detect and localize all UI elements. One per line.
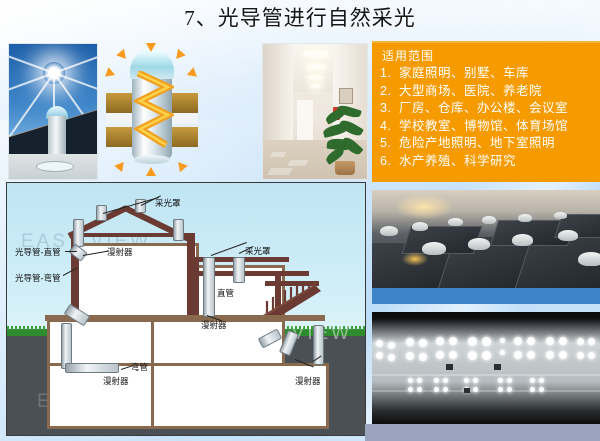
ceiling-light: [539, 387, 544, 392]
bottom-gray-bar: [365, 424, 600, 441]
ceiling-light: [539, 378, 544, 383]
ceiling-light: [527, 351, 535, 359]
list-item: 2.大型商场、医院、养老院: [380, 83, 600, 101]
diagram-label-tube-bend: 光导管-弯管: [15, 272, 61, 284]
list-number: 1.: [380, 65, 399, 83]
ceiling-light: [408, 378, 413, 383]
photo-tube-cutaway: [104, 43, 200, 178]
wall-column: [193, 257, 199, 323]
rooftop-dome: [412, 222, 428, 231]
plant-leaf: [340, 135, 363, 157]
rooftop-dome: [422, 242, 446, 255]
photo-roof-dome: [8, 43, 98, 180]
rooftop-dome: [380, 226, 398, 236]
ceiling-fixture: [446, 364, 453, 370]
list-item: 5.危险产地照明、地下室照明: [380, 135, 600, 153]
ceiling-light: [514, 337, 522, 345]
ceiling-fixture: [494, 364, 501, 370]
list-text: 水产养殖、科学研究: [399, 154, 516, 168]
ceiling-light: [468, 351, 477, 360]
rooftop-dome: [558, 230, 578, 241]
ceiling-light: [507, 387, 512, 392]
band: [170, 113, 198, 123]
list-text: 危险产地照明、地下室照明: [399, 136, 555, 150]
list-item: 3.厂房、仓库、办公楼、会议室: [380, 100, 600, 118]
ceiling-light: [482, 337, 491, 346]
list-text: 大型商场、医院、养老院: [399, 84, 542, 98]
diagram-label-straight: 直管: [217, 287, 234, 299]
scope-heading: 适用范围: [372, 43, 600, 65]
diagram-label-diffuser-top: 漫射器: [107, 246, 133, 258]
light-pipe-horizontal: [65, 363, 119, 373]
rooftop-dome: [518, 214, 532, 222]
ceiling-light: [482, 351, 491, 360]
list-text: 学校教室、博物馆、体育场馆: [399, 119, 568, 133]
photo-rooftop-array: [372, 190, 600, 288]
arrow-icon: [114, 159, 127, 172]
rooftop-dome: [554, 212, 567, 219]
ceiling-light: [406, 352, 414, 360]
ceiling-light: [406, 338, 414, 346]
ceiling-light: [468, 337, 477, 346]
ceiling-light: [473, 387, 478, 392]
flange: [170, 127, 198, 147]
ceiling-light: [376, 340, 383, 347]
section-diagram: EAST VIEW EAST VIEW EAST VIEW: [6, 182, 366, 436]
ceiling-light: [376, 352, 383, 359]
ceiling-light: [443, 387, 448, 392]
ceiling-skylight: [310, 84, 321, 88]
ceiling-light: [507, 378, 512, 383]
ceiling-light: [527, 337, 535, 345]
ceiling-light: [500, 338, 505, 343]
ceiling-light: [500, 350, 505, 355]
ceiling-light: [577, 338, 584, 345]
diagram-label-diffuser-mid: 漫射器: [201, 319, 227, 331]
ceiling-light: [443, 378, 448, 383]
ceiling-light: [530, 387, 535, 392]
slide-title: 7、光导管进行自然采光: [0, 2, 600, 32]
corridor-doorway: [297, 100, 313, 142]
diagram-label-diffuser-right: 漫射器: [295, 375, 321, 387]
ceiling-light: [498, 387, 503, 392]
list-number: 6.: [380, 153, 399, 171]
ceiling-light: [388, 354, 395, 361]
arrow-icon: [105, 67, 117, 79]
floor-tile: [270, 152, 287, 157]
list-number: 2.: [380, 83, 399, 101]
ceiling-light: [417, 387, 422, 392]
ceiling-light: [449, 351, 457, 359]
wall-picture: [339, 88, 353, 104]
floor-tile: [287, 160, 308, 166]
floor-tile: [267, 168, 293, 175]
list-text: 厂房、仓库、办公楼、会议室: [399, 101, 568, 115]
rooftop-dome: [578, 252, 600, 266]
ceiling-light: [464, 378, 469, 383]
leader-line: [211, 242, 247, 256]
ceiling-light: [417, 378, 422, 383]
plant-leaf: [338, 118, 364, 139]
ceiling-light: [449, 337, 457, 345]
ceiling-rail: [372, 390, 600, 392]
sun-reflection: [402, 252, 428, 266]
potted-plant: [323, 105, 365, 175]
arrow-icon: [185, 67, 197, 79]
sun-ray: [54, 43, 98, 74]
rooftop-dome: [468, 238, 490, 250]
flange: [170, 93, 198, 113]
ceiling-light: [530, 378, 535, 383]
ceiling-light: [436, 351, 444, 359]
ceiling-light: [514, 351, 522, 359]
arrow-icon: [174, 159, 187, 172]
light-pipe: [173, 219, 184, 241]
ceiling-light: [473, 378, 478, 383]
ceiling-light: [498, 378, 503, 383]
slide-canvas: 7、光导管进行自然采光: [0, 0, 600, 441]
ceiling-light: [419, 339, 427, 347]
light-pipe-straight: [203, 257, 215, 317]
list-item: 6.水产养殖、科学研究: [380, 153, 600, 171]
arrow-icon: [116, 49, 129, 62]
photo-ceiling-lights: [372, 312, 600, 424]
ceiling-light: [434, 378, 439, 383]
rooftop-dome: [448, 218, 463, 226]
reflected-ray-path: [134, 71, 174, 157]
list-text: 家庭照明、别墅、车库: [399, 66, 529, 80]
photo-corridor: [262, 43, 368, 180]
ceiling-fixture: [464, 388, 470, 393]
leader-line: [65, 251, 77, 252]
diagram-label-cover-right: 采光罩: [245, 245, 271, 257]
blue-divider-bar: [372, 288, 600, 304]
ceiling-skylight: [306, 64, 326, 70]
ceiling-light: [419, 353, 427, 361]
flange: [106, 93, 134, 113]
sun-ray: [8, 43, 54, 74]
ceiling-light: [577, 352, 584, 359]
arrow-icon: [146, 43, 156, 52]
diagram-label-bend: 弯管: [131, 361, 148, 373]
room-basement-right: [151, 363, 329, 429]
ceiling-skylight: [303, 50, 329, 58]
ceiling-light: [588, 352, 595, 359]
flange: [106, 127, 134, 147]
ceiling-light: [546, 351, 554, 359]
list-number: 5.: [380, 135, 399, 153]
rooftop-dome: [512, 234, 533, 246]
list-item: 4.学校教室、博物馆、体育场馆: [380, 118, 600, 136]
room-upper-left: [73, 243, 199, 325]
list-number: 4.: [380, 118, 399, 136]
ceiling-light: [588, 338, 595, 345]
arrow-icon: [146, 167, 156, 176]
sunset-glow: [394, 194, 454, 220]
ceiling-light: [434, 387, 439, 392]
diagram-label-cover-top: 采光罩: [155, 197, 181, 209]
ceiling-light: [388, 342, 395, 349]
ceiling-light: [436, 337, 444, 345]
ceiling-rail: [372, 374, 600, 376]
diagram-label-diffuser-low: 漫射器: [103, 375, 129, 387]
ceiling-diffuser: [36, 161, 74, 172]
list-item: 1.家庭照明、别墅、车库: [380, 65, 600, 83]
ceiling-light: [559, 337, 567, 345]
light-tube: [48, 116, 66, 156]
band: [106, 113, 134, 123]
rooftop-dome: [482, 216, 496, 224]
arrow-icon: [172, 49, 185, 62]
scope-box: 适用范围 1.家庭照明、别墅、车库 2.大型商场、医院、养老院 3.厂房、仓库、…: [372, 41, 600, 182]
ceiling-skylight: [308, 75, 323, 80]
ceiling-light: [408, 387, 413, 392]
diagram-label-tube-straight: 光导管-直管: [15, 246, 61, 258]
light-pipe: [233, 257, 245, 283]
ceiling-light: [559, 351, 567, 359]
plant-pot: [335, 161, 355, 175]
scope-list: 1.家庭照明、别墅、车库 2.大型商场、医院、养老院 3.厂房、仓库、办公楼、会…: [372, 65, 600, 170]
ceiling-light: [546, 337, 554, 345]
list-number: 3.: [380, 100, 399, 118]
